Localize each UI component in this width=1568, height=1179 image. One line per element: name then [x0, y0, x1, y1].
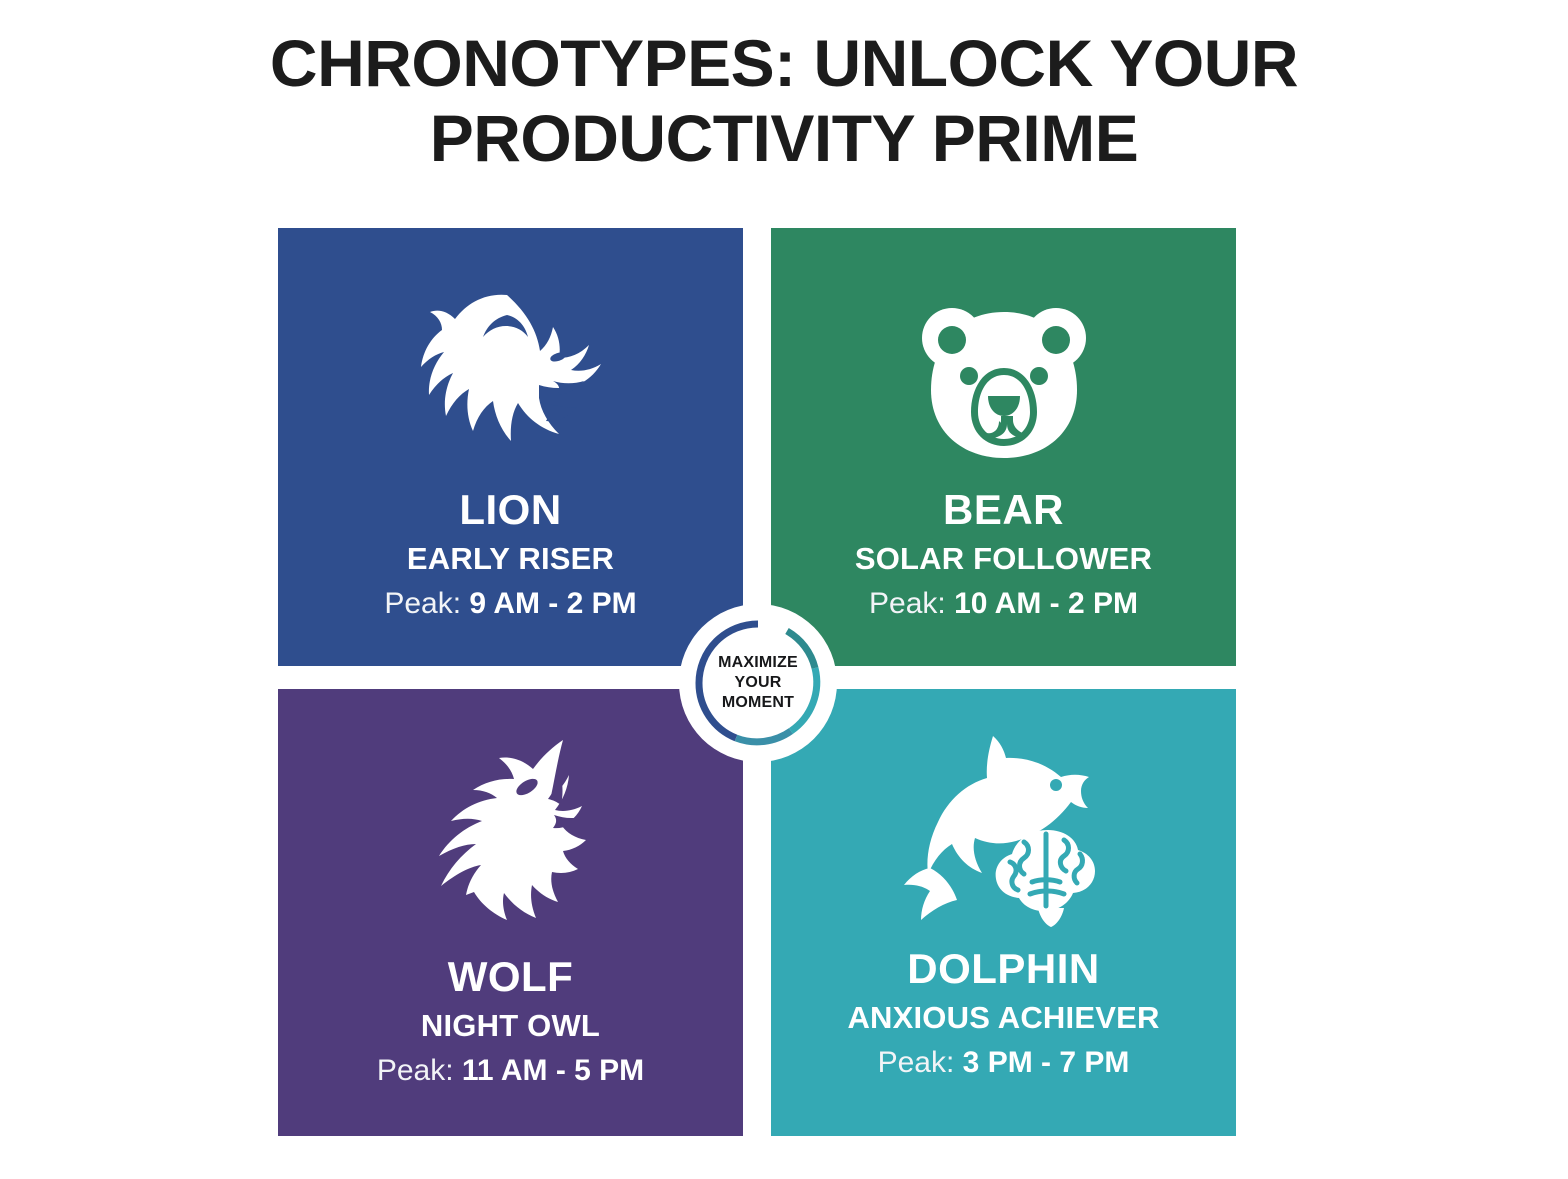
wolf-icon	[411, 717, 611, 947]
quadrant-bear-peak-time: 10 AM - 2 PM	[954, 587, 1138, 620]
quadrant-lion-subtitle: EARLY RISER	[384, 538, 636, 580]
quadrant-dolphin-subtitle: ANXIOUS ACHIEVER	[847, 997, 1159, 1039]
quadrant-wolf-text: WOLF NIGHT OWL Peak: 11 AM - 5 PM	[377, 955, 644, 1090]
page-title: CHRONOTYPES: UNLOCK YOUR PRODUCTIVITY PR…	[0, 26, 1568, 175]
quadrant-dolphin-peak-time: 3 PM - 7 PM	[963, 1046, 1130, 1079]
lion-icon	[411, 280, 611, 480]
badge-line-3: MOMENT	[718, 693, 798, 713]
quadrant-dolphin-text: DOLPHIN ANXIOUS ACHIEVER Peak: 3 PM - 7 …	[847, 947, 1159, 1082]
quadrant-bear-peak: Peak: 10 AM - 2 PM	[855, 584, 1152, 623]
quadrant-wolf-peak-label: Peak:	[377, 1054, 454, 1087]
quadrant-wolf-peak-time: 11 AM - 5 PM	[462, 1054, 644, 1087]
badge-text: MAXIMIZE YOUR MOMENT	[718, 653, 798, 713]
quadrant-lion-peak-time: 9 AM - 2 PM	[469, 587, 636, 620]
center-badge[interactable]: MAXIMIZE YOUR MOMENT	[679, 604, 837, 762]
quadrant-wolf[interactable]: WOLF NIGHT OWL Peak: 11 AM - 5 PM	[278, 689, 743, 1136]
quadrant-wolf-peak: Peak: 11 AM - 5 PM	[377, 1051, 644, 1090]
quadrant-lion-peak-label: Peak:	[384, 587, 461, 620]
quadrant-dolphin[interactable]: DOLPHIN ANXIOUS ACHIEVER Peak: 3 PM - 7 …	[771, 689, 1236, 1136]
title-line-2: PRODUCTIVITY PRIME	[0, 101, 1568, 176]
quadrant-dolphin-name: DOLPHIN	[847, 947, 1159, 991]
quadrant-wolf-subtitle: NIGHT OWL	[377, 1005, 644, 1047]
quadrant-bear-peak-label: Peak:	[869, 587, 946, 620]
quadrant-bear-name: BEAR	[855, 488, 1152, 532]
quadrant-lion-name: LION	[384, 488, 636, 532]
badge-line-2: YOUR	[718, 673, 798, 693]
quadrant-bear-text: BEAR SOLAR FOLLOWER Peak: 10 AM - 2 PM	[855, 488, 1152, 623]
dolphin-brain-icon	[896, 709, 1111, 939]
quadrant-dolphin-peak-label: Peak:	[878, 1046, 955, 1079]
quadrant-lion-text: LION EARLY RISER Peak: 9 AM - 2 PM	[384, 488, 636, 623]
bear-icon	[909, 280, 1099, 480]
quadrant-dolphin-peak: Peak: 3 PM - 7 PM	[847, 1043, 1159, 1082]
quadrant-lion[interactable]: LION EARLY RISER Peak: 9 AM - 2 PM	[278, 228, 743, 666]
title-line-1: CHRONOTYPES: UNLOCK YOUR	[0, 26, 1568, 101]
quadrant-bear-subtitle: SOLAR FOLLOWER	[855, 538, 1152, 580]
badge-line-1: MAXIMIZE	[718, 653, 798, 673]
quadrant-wolf-name: WOLF	[377, 955, 644, 999]
quadrant-bear[interactable]: BEAR SOLAR FOLLOWER Peak: 10 AM - 2 PM	[771, 228, 1236, 666]
infographic-poster: CHRONOTYPES: UNLOCK YOUR PRODUCTIVITY PR…	[0, 0, 1568, 1179]
quadrant-lion-peak: Peak: 9 AM - 2 PM	[384, 584, 636, 623]
